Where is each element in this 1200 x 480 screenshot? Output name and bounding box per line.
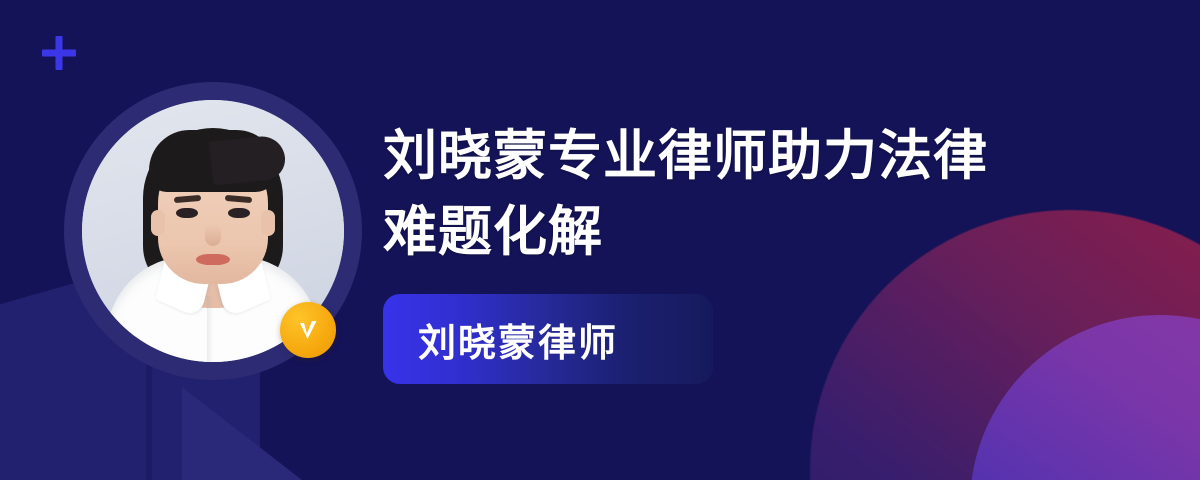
portrait-mouth [196, 254, 230, 265]
page-title: 刘晓蒙专业律师助力法律 难题化解 [383, 118, 1083, 270]
avatar [64, 82, 362, 380]
plus-icon [42, 36, 76, 70]
verified-check-icon [280, 302, 336, 358]
portrait-ear-right [261, 210, 275, 236]
lawyer-name-button[interactable]: 刘晓蒙律师 [383, 294, 713, 384]
portrait-nose [205, 224, 221, 246]
portrait-eye-left [176, 208, 198, 218]
banner-content: 刘晓蒙专业律师助力法律 难题化解 刘晓蒙律师 [383, 118, 1083, 384]
portrait-eye-right [228, 208, 250, 218]
portrait-shirt-placket [207, 296, 219, 362]
lawyer-promo-banner: 刘晓蒙专业律师助力法律 难题化解 刘晓蒙律师 [0, 0, 1200, 480]
portrait-ear-left [151, 210, 165, 236]
